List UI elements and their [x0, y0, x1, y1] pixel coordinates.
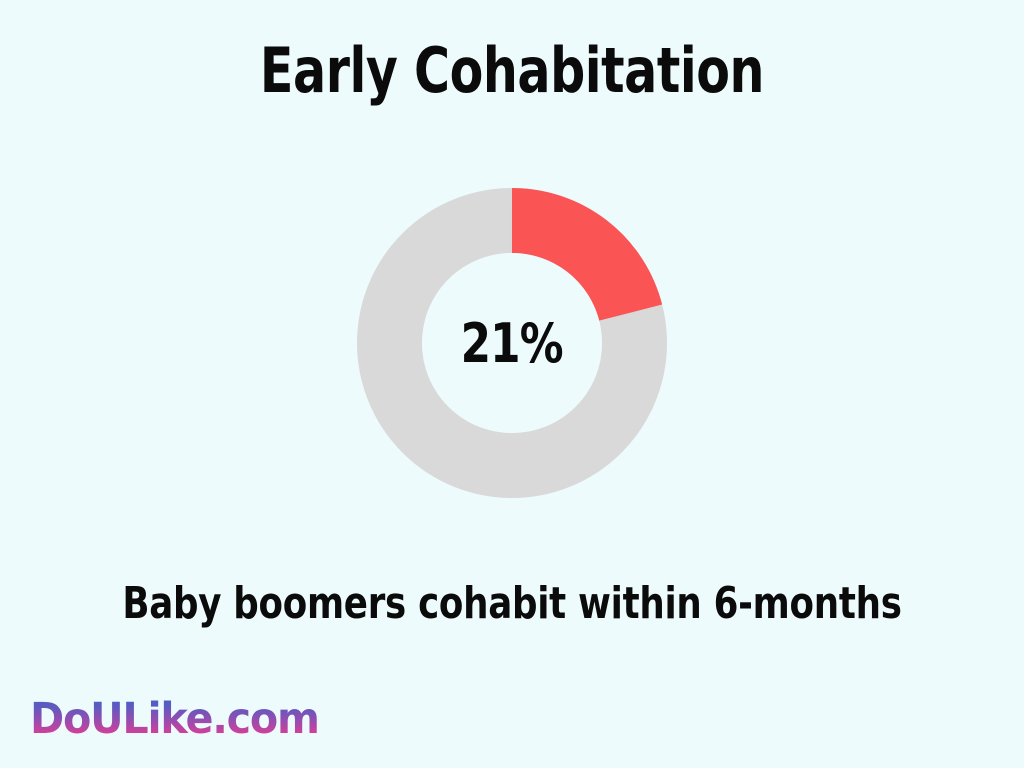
donut-chart-svg [357, 188, 667, 498]
chart-caption: Baby boomers cohabit within 6-months [51, 580, 973, 628]
brand-logo[interactable]: DoULike.com [30, 696, 319, 742]
donut-hole [422, 253, 602, 433]
donut-chart: 21% [357, 188, 667, 498]
page-title: Early Cohabitation [61, 38, 962, 104]
infographic-slide: Early Cohabitation 21% Baby boomers coha… [0, 0, 1024, 768]
